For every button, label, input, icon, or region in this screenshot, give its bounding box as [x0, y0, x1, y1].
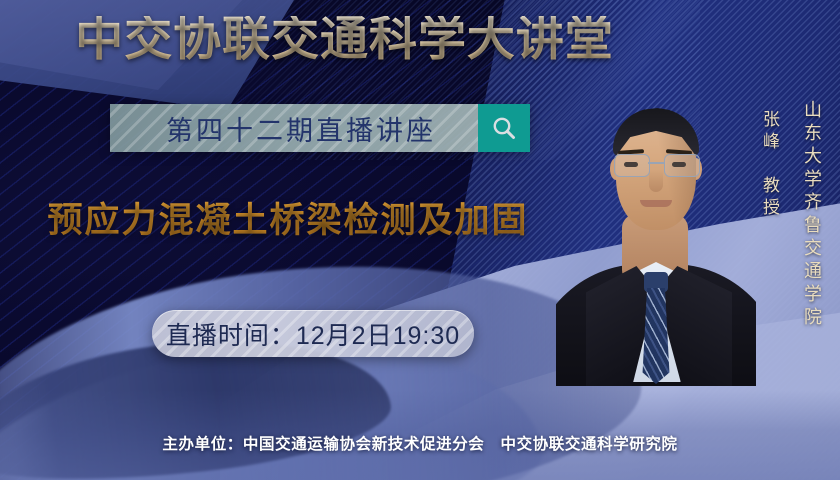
live-time-badge: 直播时间：12月2日19:30: [152, 310, 474, 357]
episode-subtitle-bar: 第四十二期直播讲座: [110, 104, 530, 152]
portrait-mouth: [640, 200, 672, 207]
speaker-affiliation: 山东大学齐鲁交通学院: [798, 100, 824, 330]
episode-subtitle-label: 第四十二期直播讲座: [110, 104, 478, 152]
live-time-text: 直播时间：12月2日19:30: [166, 316, 460, 352]
speaker-portrait: [556, 96, 756, 386]
lecture-topic-headline: 预应力混凝土桥梁检测及加固: [0, 192, 576, 243]
organizer-footer-text: 主办单位：中国交通运输协会新技术促进分会 中交协联交通科学研究院: [162, 436, 677, 453]
portrait-glasses-bridge: [648, 162, 664, 164]
organizer-footer: 主办单位：中国交通运输协会新技术促进分会 中交协联交通科学研究院: [0, 432, 840, 454]
portrait-nose: [649, 170, 663, 192]
poster-main-title: 中交协联交通科学大讲堂: [0, 16, 840, 63]
live-lecture-poster: 中交协联交通科学大讲堂 第四十二期直播讲座 预应力混凝土桥梁检测及加固 直播时间…: [0, 0, 840, 480]
search-icon[interactable]: [478, 104, 530, 152]
portrait-lens-left: [614, 154, 650, 177]
portrait-lens-right: [664, 154, 700, 177]
speaker-name-title: 张峰 教授: [757, 110, 782, 220]
